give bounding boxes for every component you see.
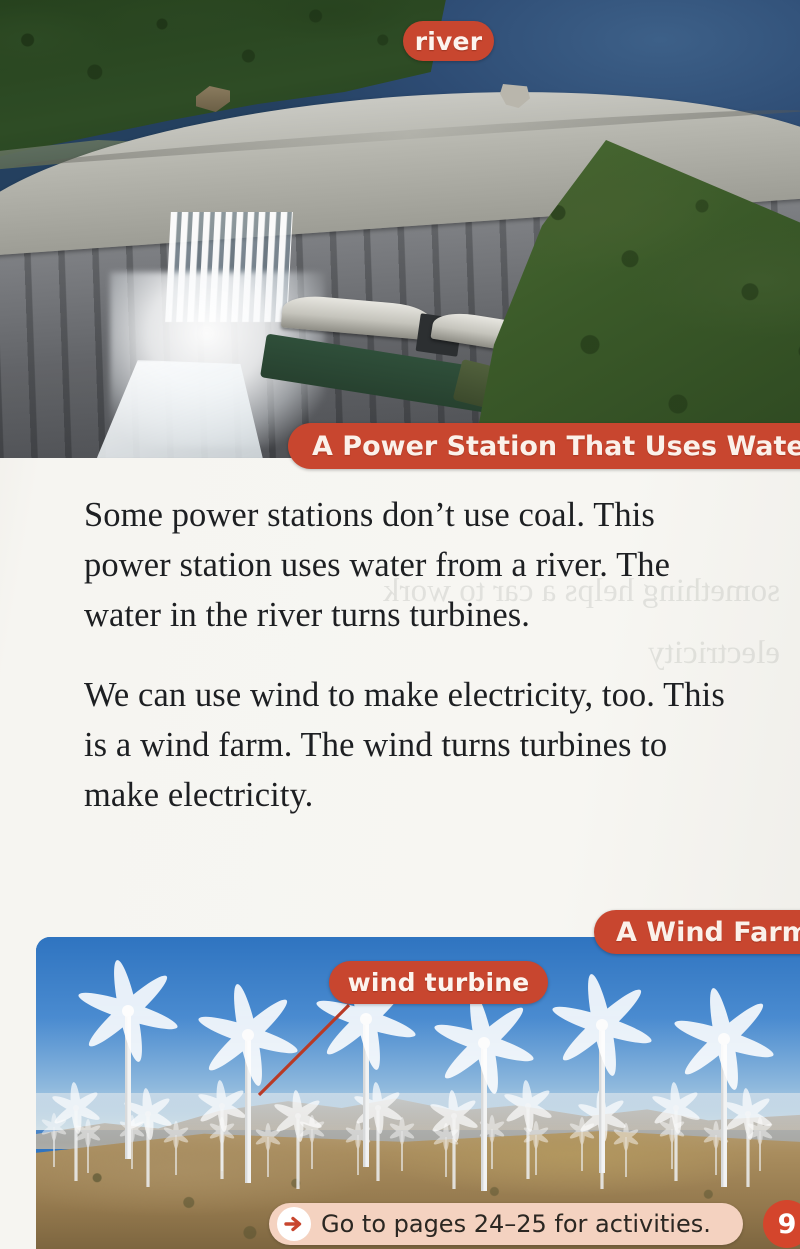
caption-power-station: A Power Station That Uses Water [288, 423, 800, 469]
caption-wind-farm: A Wind Farm [594, 910, 800, 954]
paragraph-1: Some power stations don’t use coal. This… [84, 490, 744, 640]
callout-wind-turbine: wind turbine [329, 961, 548, 1004]
activity-bar[interactable]: Go to pages 24–25 for activities. [269, 1203, 743, 1245]
callout-river: river [403, 21, 494, 61]
paragraph-2: We can use wind to make electricity, too… [84, 670, 744, 820]
arrow-right-icon [277, 1207, 311, 1241]
activity-text: Go to pages 24–25 for activities. [321, 1210, 711, 1238]
book-page: river A Power Station That Uses Water so… [0, 0, 800, 1249]
hydroelectric-dam-photo [0, 0, 800, 458]
body-text: Some power stations don’t use coal. This… [84, 490, 744, 820]
